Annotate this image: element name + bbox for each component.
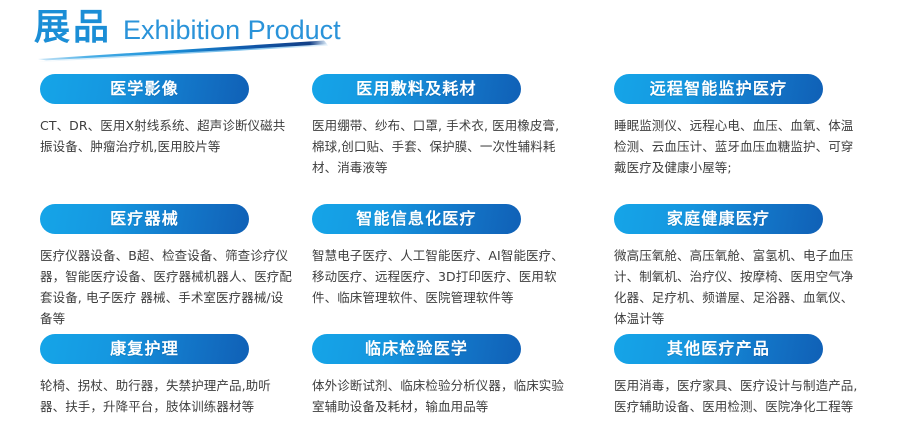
category-card[interactable]: 医学影像 CT、DR、医用X射线系统、超声诊断仪磁共振设备、肿瘤治疗机,医用胶片… [0, 74, 300, 204]
page-title-english: Exhibition Product [123, 17, 341, 44]
category-description: 医疗仪器设备、B超、检查设备、筛查诊疗仪器，智能医疗设备、医疗器械机器人、医疗配… [40, 245, 292, 329]
category-card[interactable]: 家庭健康医疗 微高压氧舱、高压氧舱、富氢机、电子血压计、制氧机、治疗仪、按摩椅、… [600, 204, 902, 334]
category-description: 微高压氧舱、高压氧舱、富氢机、电子血压计、制氧机、治疗仪、按摩椅、医用空气净化器… [614, 245, 864, 329]
category-pill[interactable]: 远程智能监护医疗 [614, 74, 823, 104]
category-pill[interactable]: 其他医疗产品 [614, 334, 823, 364]
category-card[interactable]: 临床检验医学 体外诊断试剂、临床检验分析仪器，临床实验室辅助设备及耗材，输血用品… [300, 334, 600, 448]
category-description: CT、DR、医用X射线系统、超声诊断仪磁共振设备、肿瘤治疗机,医用胶片等 [40, 115, 292, 157]
category-card[interactable]: 医用敷料及耗材 医用绷带、纱布、口罩, 手术衣, 医用橡皮膏,棉球,创口贴、手套… [300, 74, 600, 204]
category-description: 睡眠监测仪、远程心电、血压、血氧、体温检测、云血压计、蓝牙血压血糖监护、可穿戴医… [614, 115, 864, 178]
page-title-chinese: 展品 [34, 10, 112, 46]
category-pill[interactable]: 医用敷料及耗材 [312, 74, 521, 104]
category-pill[interactable]: 家庭健康医疗 [614, 204, 823, 234]
category-title: 康复护理 [110, 341, 179, 357]
category-pill[interactable]: 康复护理 [40, 334, 249, 364]
category-description: 医用消毒，医疗家具、医疗设计与制造产品,医疗辅助设备、医用检测、医院净化工程等 [614, 375, 864, 417]
category-title: 家庭健康医疗 [667, 211, 770, 227]
page-title: 展品 Exhibition Product [34, 10, 341, 46]
category-title: 医疗器械 [110, 211, 179, 227]
category-card[interactable]: 智能信息化医疗 智慧电子医疗、人工智能医疗、AI智能医疗、移动医疗、远程医疗、3… [300, 204, 600, 334]
category-description: 智慧电子医疗、人工智能医疗、AI智能医疗、移动医疗、远程医疗、3D打印医疗、医用… [312, 245, 564, 308]
category-title: 其他医疗产品 [667, 341, 770, 357]
category-title: 临床检验医学 [365, 341, 468, 357]
page-header: 展品 Exhibition Product [0, 0, 902, 72]
category-pill[interactable]: 智能信息化医疗 [312, 204, 521, 234]
category-card[interactable]: 其他医疗产品 医用消毒，医疗家具、医疗设计与制造产品,医疗辅助设备、医用检测、医… [600, 334, 902, 448]
category-card[interactable]: 医疗器械 医疗仪器设备、B超、检查设备、筛查诊疗仪器，智能医疗设备、医疗器械机器… [0, 204, 300, 334]
category-description: 医用绷带、纱布、口罩, 手术衣, 医用橡皮膏,棉球,创口贴、手套、保护膜、一次性… [312, 115, 564, 178]
category-title: 远程智能监护医疗 [650, 81, 788, 97]
category-pill[interactable]: 临床检验医学 [312, 334, 521, 364]
category-card[interactable]: 远程智能监护医疗 睡眠监测仪、远程心电、血压、血氧、体温检测、云血压计、蓝牙血压… [600, 74, 902, 204]
category-description: 体外诊断试剂、临床检验分析仪器，临床实验室辅助设备及耗材，输血用品等 [312, 375, 564, 417]
category-card[interactable]: 康复护理 轮椅、拐杖、助行器，失禁护理产品,助听器、扶手，升降平台，肢体训练器材… [0, 334, 300, 448]
category-grid: 医学影像 CT、DR、医用X射线系统、超声诊断仪磁共振设备、肿瘤治疗机,医用胶片… [0, 74, 902, 448]
category-title: 医用敷料及耗材 [356, 81, 476, 97]
category-pill[interactable]: 医疗器械 [40, 204, 249, 234]
category-title: 医学影像 [110, 81, 179, 97]
category-description: 轮椅、拐杖、助行器，失禁护理产品,助听器、扶手，升降平台，肢体训练器材等 [40, 375, 292, 417]
category-pill[interactable]: 医学影像 [40, 74, 249, 104]
category-title: 智能信息化医疗 [356, 211, 476, 227]
